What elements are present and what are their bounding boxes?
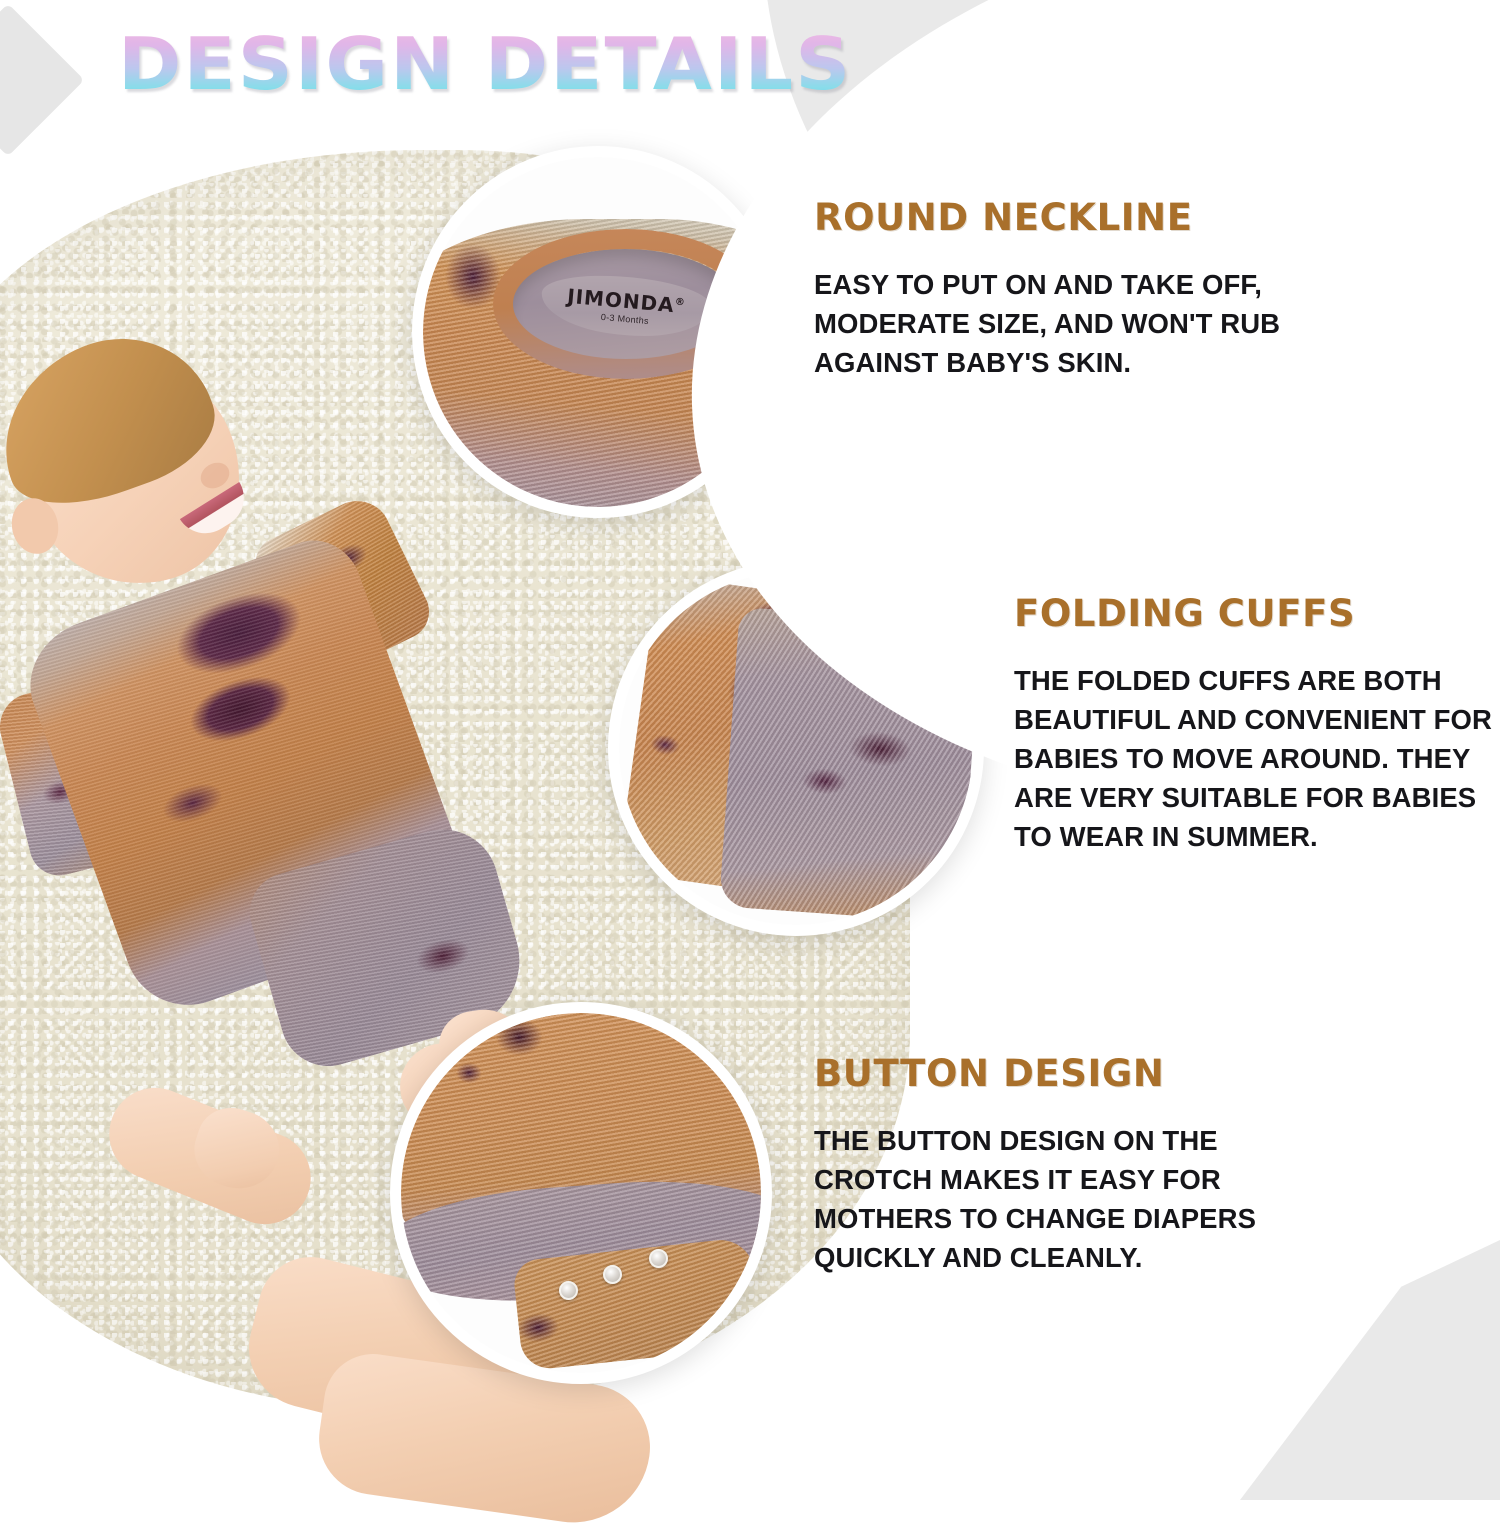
feature-heading-button-design: BUTTON DESIGN	[814, 1052, 1314, 1095]
feature-body-round-neckline: EASY TO PUT ON AND TAKE OFF, MODERATE SI…	[814, 265, 1334, 382]
detail-button-image	[401, 1013, 761, 1373]
feature-block-round-neckline: ROUND NECKLINE EASY TO PUT ON AND TAKE O…	[814, 196, 1334, 382]
registered-mark-icon: ®	[674, 296, 686, 308]
feature-body-folding-cuffs: THE FOLDED CUFFS ARE BOTH BEAUTIFUL AND …	[1014, 661, 1494, 856]
feature-body-button-design: THE BUTTON DESIGN ON THE CROTCH MAKES IT…	[814, 1121, 1314, 1277]
brand-name-value: JIMONDA	[566, 283, 675, 316]
snap-button-icon-1	[559, 1281, 578, 1300]
feature-heading-round-neckline: ROUND NECKLINE	[814, 196, 1334, 239]
snap-button-icon-2	[603, 1265, 622, 1284]
brand-name-text: JIMONDA®	[566, 283, 686, 317]
feature-block-button-design: BUTTON DESIGN THE BUTTON DESIGN ON THE C…	[814, 1052, 1314, 1277]
feature-heading-folding-cuffs: FOLDING CUFFS	[1014, 592, 1494, 635]
feature-block-folding-cuffs: FOLDING CUFFS THE FOLDED CUFFS ARE BOTH …	[1014, 592, 1494, 856]
detail-circle-buttons	[390, 1002, 772, 1384]
crotch-placket	[512, 1237, 761, 1371]
page-title-wrapper: DESIGN DETAILS	[118, 28, 811, 100]
page-title: DESIGN DETAILS	[118, 28, 852, 100]
snap-button-icon-3	[649, 1249, 668, 1268]
